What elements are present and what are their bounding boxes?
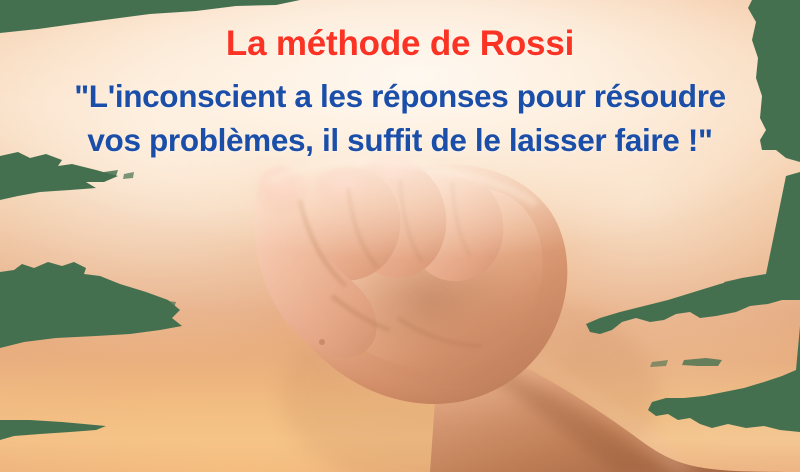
banner-quote-line-1: "L'inconscient a les réponses pour résou… xyxy=(0,74,800,118)
edge-shape-left-lower xyxy=(0,262,182,348)
banner-quote-line-2: vos problèmes, il suffit de le laisser f… xyxy=(0,118,800,162)
promotional-banner: La méthode de Rossi "L'inconscient a les… xyxy=(0,0,800,472)
text-block: La méthode de Rossi "L'inconscient a les… xyxy=(0,0,800,162)
banner-quote: "L'inconscient a les réponses pour résou… xyxy=(0,63,800,162)
edge-shape-right-accent xyxy=(724,272,800,292)
edge-shape-bottom-left xyxy=(0,420,106,440)
edge-shape-right-lower xyxy=(648,326,800,432)
banner-headline: La méthode de Rossi xyxy=(0,0,800,63)
edge-shape-right-mid xyxy=(586,172,800,334)
